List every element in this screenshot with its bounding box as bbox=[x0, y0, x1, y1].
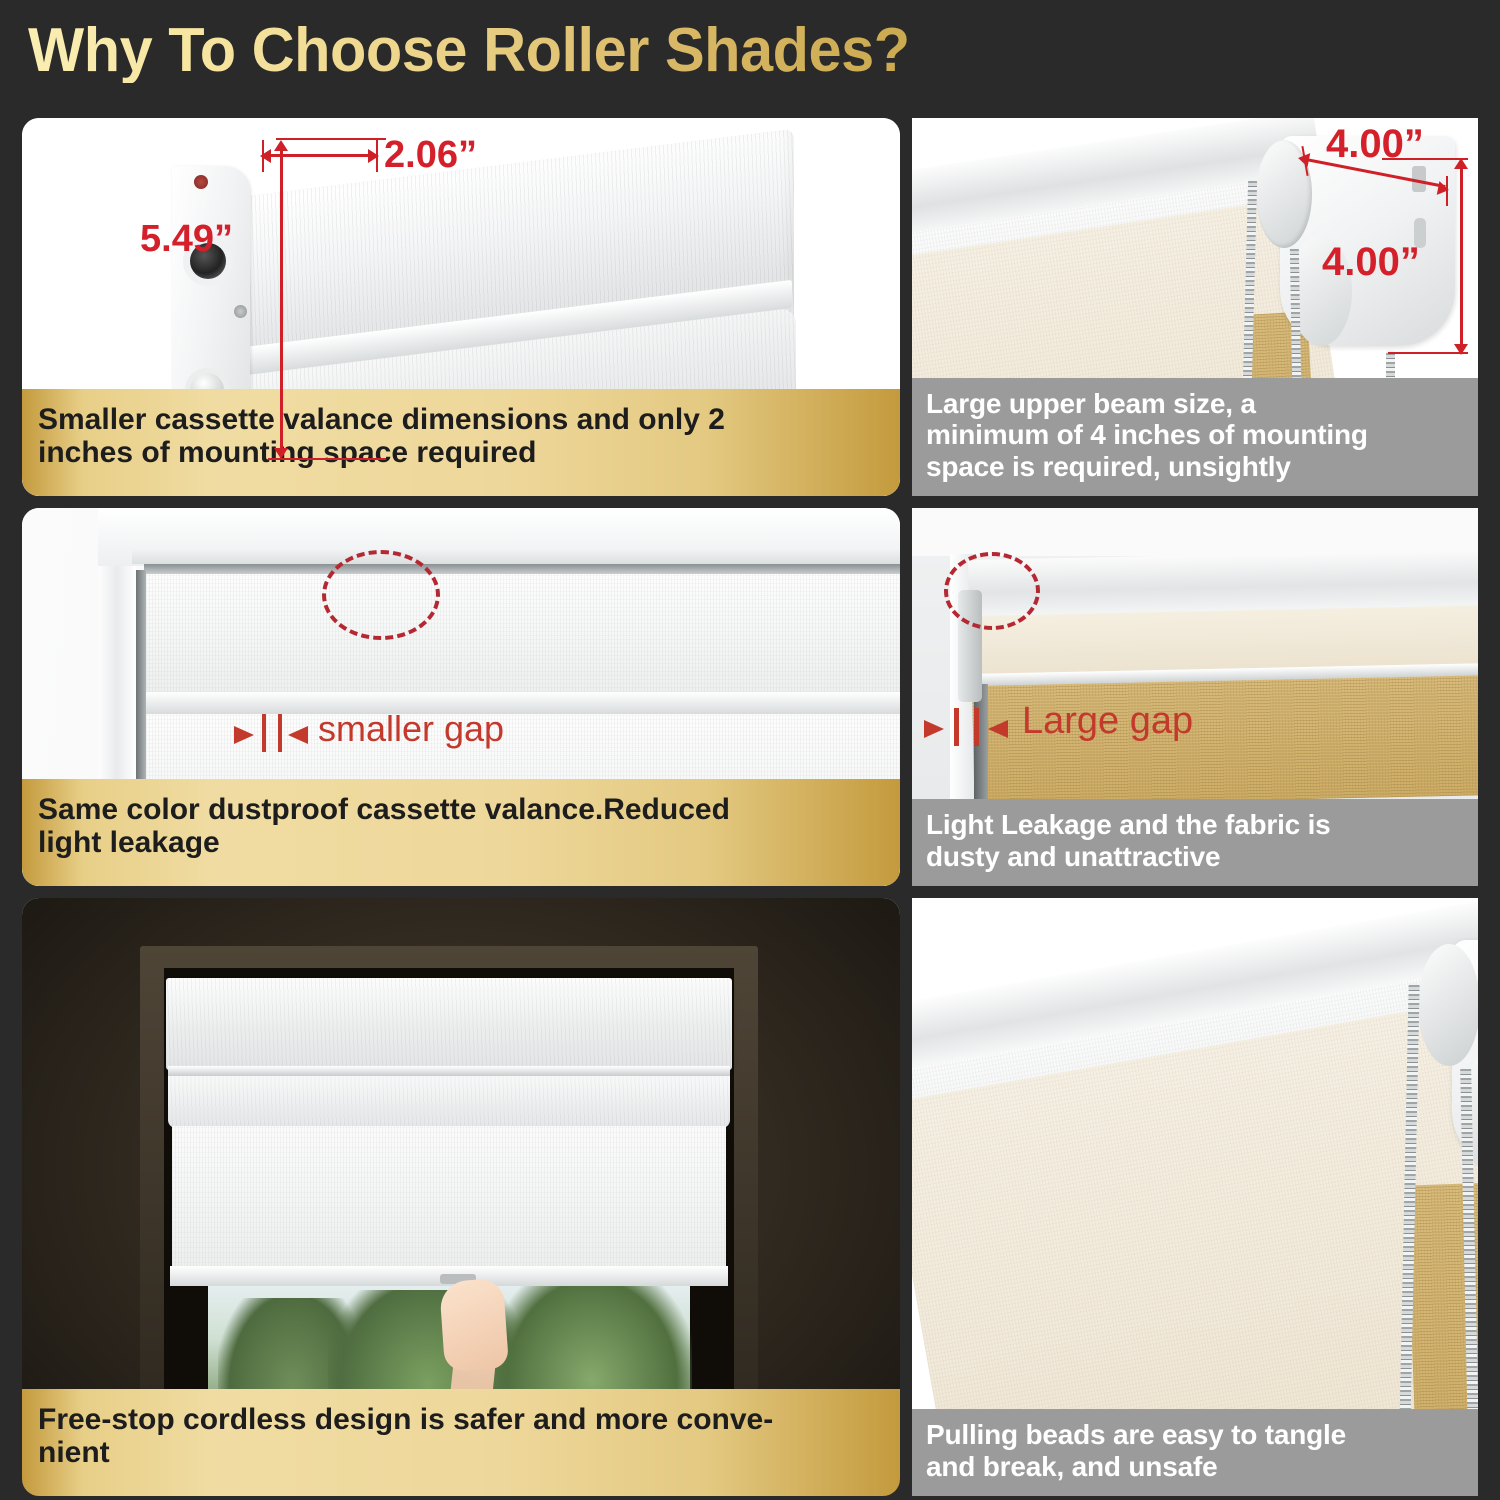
panel-6-caption: Pulling beads are easy to tangle and bre… bbox=[912, 1409, 1478, 1496]
gap-tick-b bbox=[278, 714, 282, 752]
roller-shade-fabric bbox=[172, 1126, 726, 1278]
beam-height-arrow-bottom-icon bbox=[1454, 344, 1468, 355]
panel-2-caption-line-3: space is required, unsightly bbox=[926, 451, 1464, 482]
cream-fabric-band bbox=[972, 605, 1478, 674]
height-dim-arrow-top-icon bbox=[274, 140, 288, 151]
panel-5-caption: Free-stop cordless design is safer and m… bbox=[22, 1389, 900, 1496]
cassette-headrail bbox=[144, 564, 900, 574]
panel-5-caption-line-1: Free-stop cordless design is safer and m… bbox=[38, 1403, 884, 1437]
height-dim-arrow-bottom-icon bbox=[274, 448, 288, 459]
gap-arrow-right-icon bbox=[288, 726, 308, 744]
panel-3-caption-line-2: light leakage bbox=[38, 826, 884, 860]
panel-free-stop-cordless: Free-stop cordless design is safer and m… bbox=[22, 898, 900, 1496]
panel-1-caption-line-1: Smaller cassette valance dimensions and … bbox=[38, 403, 884, 437]
panel-4-caption-line-2: dusty and unattractive bbox=[926, 841, 1464, 872]
gap-arrow-right-icon bbox=[988, 720, 1008, 738]
roller-end-disc-upper bbox=[1418, 944, 1478, 1066]
panel-large-upper-beam: 4.00” 4.00” Large upper beam size, a min… bbox=[912, 118, 1478, 496]
panel-pulling-beads-unsafe: Pulling beads are easy to tangle and bre… bbox=[912, 898, 1478, 1496]
shade-panel-upper bbox=[146, 574, 900, 692]
valance-groove bbox=[168, 1066, 730, 1076]
panel-6-caption-line-2: and break, and unsafe bbox=[926, 1451, 1464, 1482]
panel-5-caption-line-2: nient bbox=[38, 1436, 884, 1470]
panel-2-caption-line-2: minimum of 4 inches of mounting bbox=[926, 419, 1464, 450]
window-frame-bevel bbox=[132, 548, 900, 564]
panel-1-caption-line-2: inches of mounting space required bbox=[38, 436, 884, 470]
panel-1-caption: Smaller cassette valance dimensions and … bbox=[22, 389, 900, 496]
end-cap-screw-icon bbox=[234, 305, 247, 318]
panel-6-photo bbox=[912, 898, 1478, 1496]
highlight-ellipse-icon bbox=[322, 550, 440, 640]
height-dimension-label: 5.49” bbox=[140, 218, 233, 261]
panel-3-caption: Same color dustproof cassette valance.Re… bbox=[22, 779, 900, 886]
width-dim-arrow-left-icon bbox=[260, 149, 271, 163]
panel-2-caption-line-1: Large upper beam size, a bbox=[926, 388, 1464, 419]
hand-pulling-shade bbox=[439, 1278, 509, 1372]
panel-dustproof-cassette-valance: smaller gap Same color dustproof cassett… bbox=[22, 508, 900, 886]
panel-2-caption: Large upper beam size, a minimum of 4 in… bbox=[912, 378, 1478, 496]
beam-height-line bbox=[1460, 162, 1463, 354]
beam-width-label: 4.00” bbox=[1326, 122, 1424, 167]
width-dim-arrow-right-icon bbox=[368, 149, 379, 163]
gap-tick-a bbox=[954, 708, 959, 746]
large-gap-label: Large gap bbox=[1022, 700, 1193, 743]
valance-lower-shell bbox=[168, 1076, 730, 1128]
cassette-valance bbox=[166, 978, 732, 1070]
panel-3-caption-line-1: Same color dustproof cassette valance.Re… bbox=[38, 793, 884, 827]
beam-height-label: 4.00” bbox=[1322, 240, 1420, 285]
panel-light-leakage: Large gap Light Leakage and the fabric i… bbox=[912, 508, 1478, 886]
width-dimension-label: 2.06” bbox=[384, 134, 477, 177]
height-dim-ext-top bbox=[276, 138, 386, 140]
end-cap-screw-top-icon bbox=[194, 175, 208, 189]
beam-height-arrow-top-icon bbox=[1454, 158, 1468, 169]
infographic-page: Why To Choose Roller Shades? bbox=[0, 0, 1500, 1500]
panel-4-caption: Light Leakage and the fabric is dusty an… bbox=[912, 799, 1478, 886]
smaller-gap-label: smaller gap bbox=[318, 708, 504, 750]
gap-tick-a bbox=[262, 714, 266, 752]
side-gap-strip bbox=[974, 684, 988, 808]
width-dim-line bbox=[268, 154, 376, 157]
comparison-grid: 2.06” 5.49” Smaller cassette valance dim… bbox=[22, 118, 1478, 1486]
panel-smaller-cassette-valance: 2.06” 5.49” Smaller cassette valance dim… bbox=[22, 118, 900, 496]
page-title: Why To Choose Roller Shades? bbox=[28, 18, 910, 83]
shade-mid-rail bbox=[142, 692, 900, 714]
panel-4-caption-line-1: Light Leakage and the fabric is bbox=[926, 809, 1464, 840]
gap-arrow-left-icon bbox=[924, 720, 944, 738]
gap-arrow-left-icon bbox=[234, 726, 254, 744]
gap-tick-b bbox=[974, 708, 979, 746]
panel-6-caption-line-1: Pulling beads are easy to tangle bbox=[926, 1419, 1464, 1450]
height-dim-line bbox=[280, 144, 283, 454]
highlight-ellipse-icon bbox=[944, 552, 1040, 630]
